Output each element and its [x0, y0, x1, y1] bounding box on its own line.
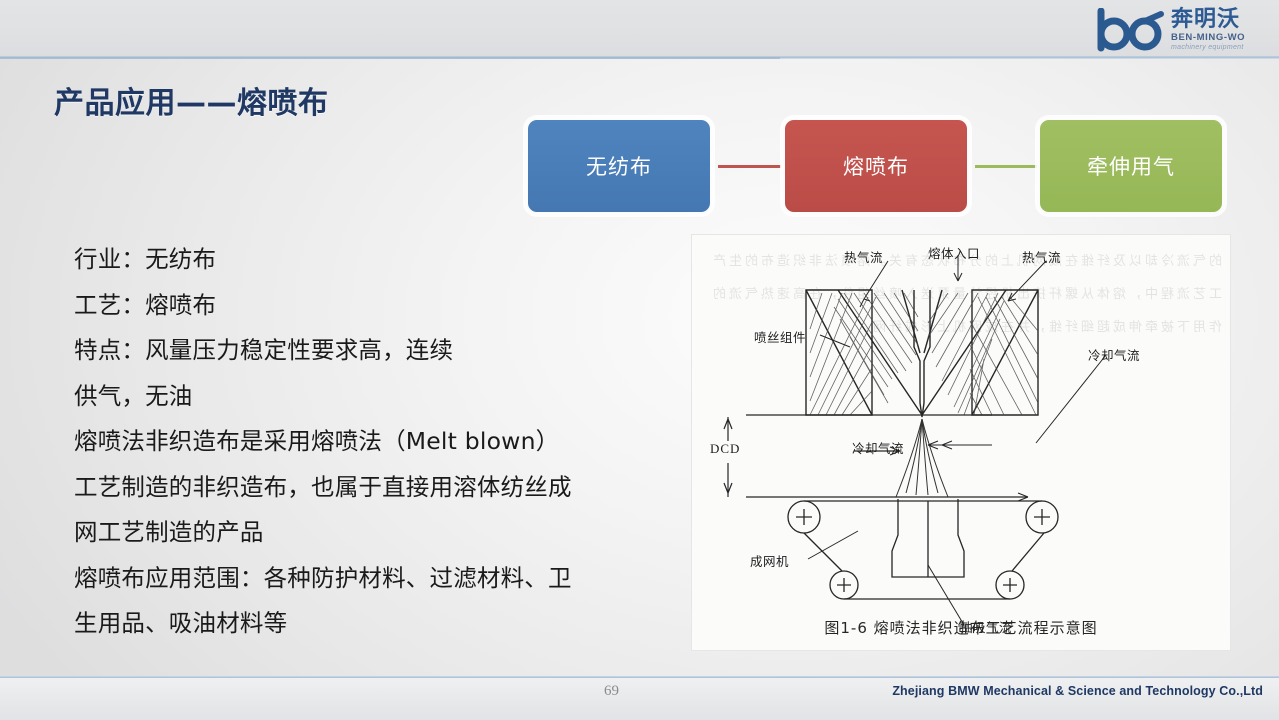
figure-label-hot-air-right: 热气流 — [1022, 247, 1061, 266]
header-band — [0, 0, 1279, 58]
figure-caption: 图1-6 熔喷法非织造布工艺流程示意图 — [692, 617, 1230, 638]
chain-node-meltblown[interactable]: 熔喷布 — [785, 120, 967, 212]
logo-text-group: 奔明沃 BEN-MING-WO machinery equipment — [1171, 9, 1245, 52]
body-line: 工艺：熔喷布 — [74, 283, 684, 329]
figure-label-melt-inlet: 熔体入口 — [928, 243, 980, 262]
body-line: 行业：无纺布 — [74, 237, 684, 283]
figure-label-cooling-air-right: 冷却气流 — [1088, 345, 1140, 364]
body-line: 熔喷法非织造布是采用熔喷法（Melt blown） — [74, 419, 684, 465]
process-chain: 无纺布 熔喷布 牵伸用气 — [520, 112, 1230, 220]
meltblown-process-diagram — [692, 235, 1230, 650]
chain-connector-1 — [718, 165, 781, 168]
body-line: 生用品、吸油材料等 — [74, 601, 684, 647]
page-number: 69 — [604, 683, 619, 700]
chain-connector-2 — [975, 165, 1037, 168]
body-line: 熔喷布应用范围：各种防护材料、过滤材料、卫 — [74, 556, 684, 602]
logo-brand-en: BEN-MING-WO — [1171, 33, 1245, 43]
slide: 奔明沃 BEN-MING-WO machinery equipment 产品应用… — [0, 0, 1279, 720]
footer-company-name: Zhejiang BMW Mechanical & Science and Te… — [892, 684, 1263, 698]
bo-monogram-logo-icon — [1097, 8, 1167, 52]
figure-label-cooling-air-left: 冷却气流 — [852, 438, 904, 457]
body-line: 特点：风量压力稳定性要求高，连续 — [74, 328, 684, 374]
logo-brand-cn: 奔明沃 — [1171, 9, 1245, 31]
body-copy: 行业：无纺布 工艺：熔喷布 特点：风量压力稳定性要求高，连续 供气，无油 熔喷法… — [74, 237, 684, 647]
logo-tagline: machinery equipment — [1171, 44, 1245, 51]
process-figure-image: 的气流冷却以及纤维在成网机上的分布状态有关。熔喷法非织造布的生产工艺流程中，熔体… — [692, 235, 1230, 650]
chain-node-drawing-air[interactable]: 牵伸用气 — [1040, 120, 1222, 212]
figure-label-web-former: 成网机 — [750, 551, 789, 570]
body-line: 网工艺制造的产品 — [74, 510, 684, 556]
header-divider-accent — [0, 57, 780, 59]
body-line: 供气，无油 — [74, 374, 684, 420]
company-logo: 奔明沃 BEN-MING-WO machinery equipment — [1097, 4, 1269, 56]
figure-label-hot-air-left: 热气流 — [844, 247, 883, 266]
body-line: 工艺制造的非织造布，也属于直接用溶体纺丝成 — [74, 465, 684, 511]
figure-label-dcd: DCD — [710, 441, 740, 457]
page-title: 产品应用——熔喷布 — [54, 78, 329, 122]
figure-label-spinneret: 喷丝组件 — [754, 327, 806, 346]
chain-node-nonwoven[interactable]: 无纺布 — [528, 120, 710, 212]
